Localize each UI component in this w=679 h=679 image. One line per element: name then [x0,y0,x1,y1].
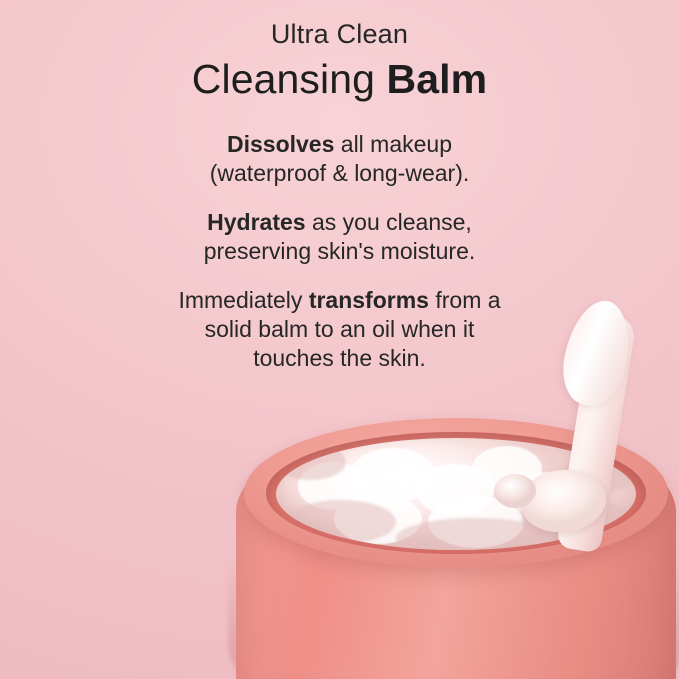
benefit-item: Hydrates as you cleanse, preserving skin… [204,208,476,266]
benefit-line: Hydrates as you cleanse, [204,208,476,237]
benefit-text: from a [429,287,501,313]
benefit-text: Immediately [178,287,308,313]
benefits-list: Dissolves all makeup (waterproof & long-… [0,130,679,373]
page-title: Cleansing Balm [0,54,679,104]
benefit-line: touches the skin. [178,344,500,373]
benefit-bold: Dissolves [227,131,334,157]
text-block: Ultra Clean Cleansing Balm Dissolves all… [0,16,679,373]
headline-bold: Balm [387,56,488,102]
benefit-line: solid balm to an oil when it [178,315,500,344]
benefit-line: Immediately transforms from a [178,286,500,315]
benefit-line: Dissolves all makeup [210,130,470,159]
product-poster: Ultra Clean Cleansing Balm Dissolves all… [0,0,679,679]
benefit-bold: Hydrates [207,209,305,235]
benefit-line: (waterproof & long-wear). [210,159,470,188]
headline-light: Cleansing [192,56,375,102]
benefit-text: all makeup [334,131,452,157]
benefit-text: as you cleanse, [306,209,472,235]
benefit-item: Immediately transforms from a solid balm… [178,286,500,373]
benefit-bold: transforms [309,287,429,313]
eyebrow-text: Ultra Clean [0,16,679,52]
balm-crumb [494,474,536,508]
benefit-item: Dissolves all makeup (waterproof & long-… [210,130,470,188]
benefit-line: preserving skin's moisture. [204,237,476,266]
